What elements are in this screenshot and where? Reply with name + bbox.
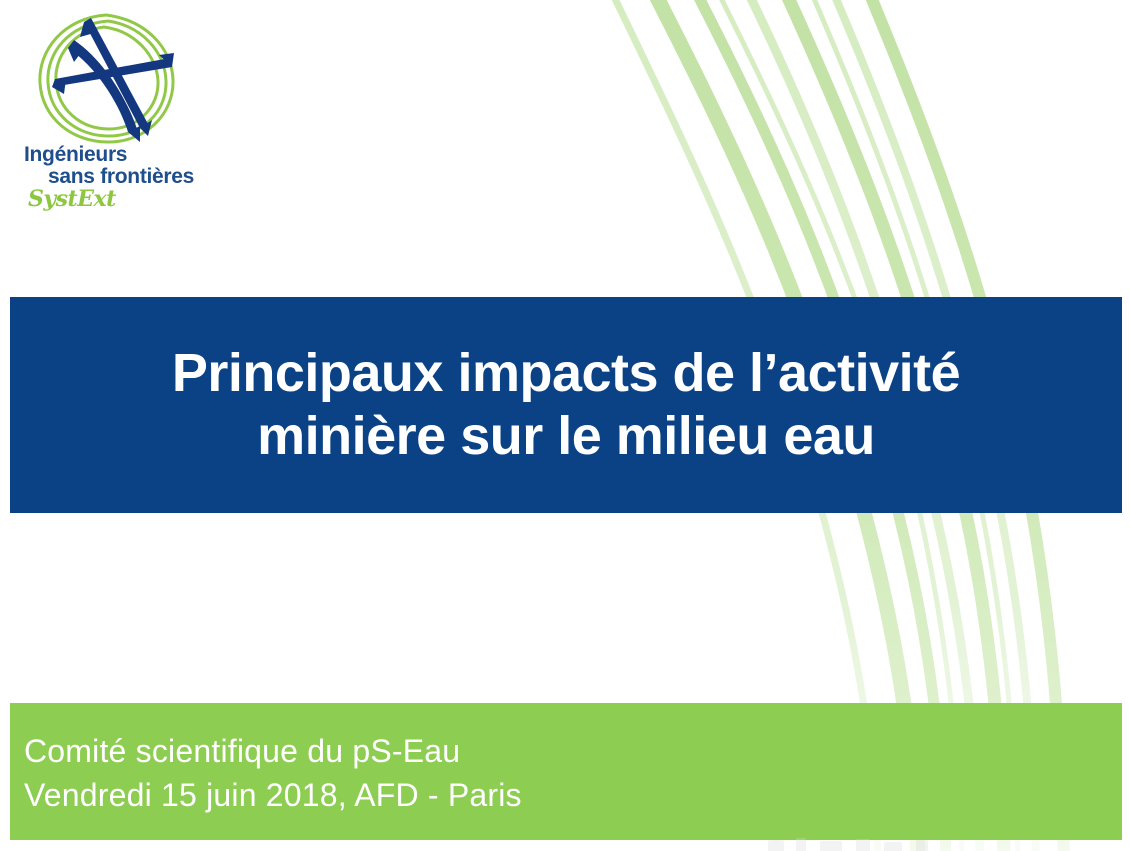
organization-logo: Ingénieurs sans frontières SystExt: [12, 6, 217, 211]
logo-line-sans-frontieres: sans frontières: [48, 166, 218, 187]
page-title: Principaux impacts de l’activité minière…: [146, 342, 986, 468]
title-slide: Ingénieurs sans frontières SystExt Princ…: [0, 0, 1130, 851]
footer-date-venue-line: Vendredi 15 juin 2018, AFD - Paris: [24, 773, 1122, 817]
title-line-1: Principaux impacts de l’activité: [172, 343, 960, 403]
bottom-edge-artifact: [760, 838, 990, 851]
footer-band: Comité scientifique du pS-Eau Vendredi 1…: [10, 703, 1122, 840]
logo-wordmark: Ingénieurs sans frontières SystExt: [18, 144, 218, 210]
footer-event-line: Comité scientifique du pS-Eau: [24, 729, 1122, 773]
star-arrows-logo-icon: [28, 6, 188, 156]
title-banner: Principaux impacts de l’activité minière…: [10, 297, 1122, 513]
logo-line-ingenieurs: Ingénieurs: [24, 144, 218, 165]
title-line-2: minière sur le milieu eau: [257, 406, 875, 466]
logo-line-systext: SystExt: [28, 188, 218, 210]
